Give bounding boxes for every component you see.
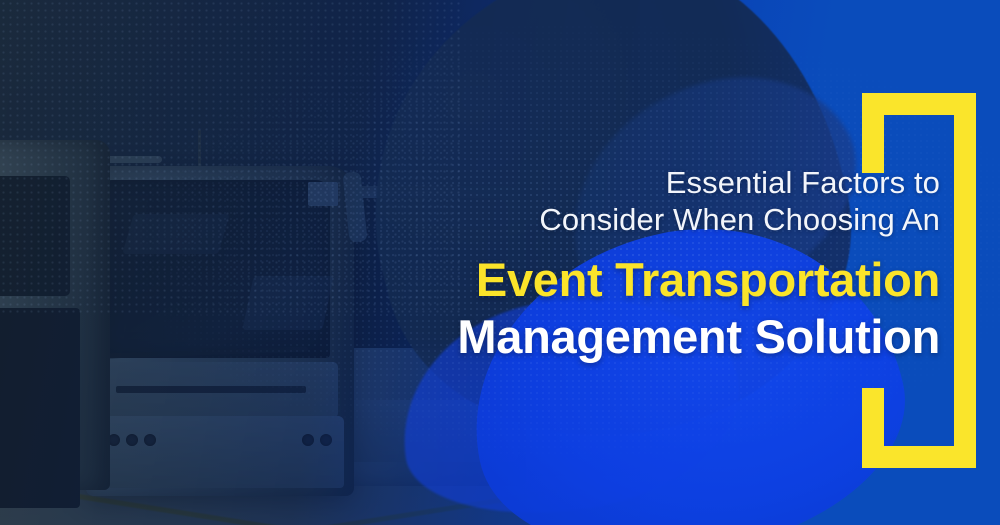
blog-hero-banner: Essential Factors to Consider When Choos…: [0, 0, 1000, 525]
bracket-top-left-stub: [862, 93, 884, 173]
kicker-line-1: Essential Factors to: [320, 164, 940, 201]
bracket-bottom-left-stub: [862, 388, 884, 468]
bracket-right-bar: [954, 93, 976, 468]
headline-line-2: Management Solution: [320, 308, 940, 365]
kicker-line-2: Consider When Choosing An: [320, 201, 940, 238]
headline-block: Essential Factors to Consider When Choos…: [320, 164, 940, 365]
headline-line-1: Event Transportation: [320, 251, 940, 308]
